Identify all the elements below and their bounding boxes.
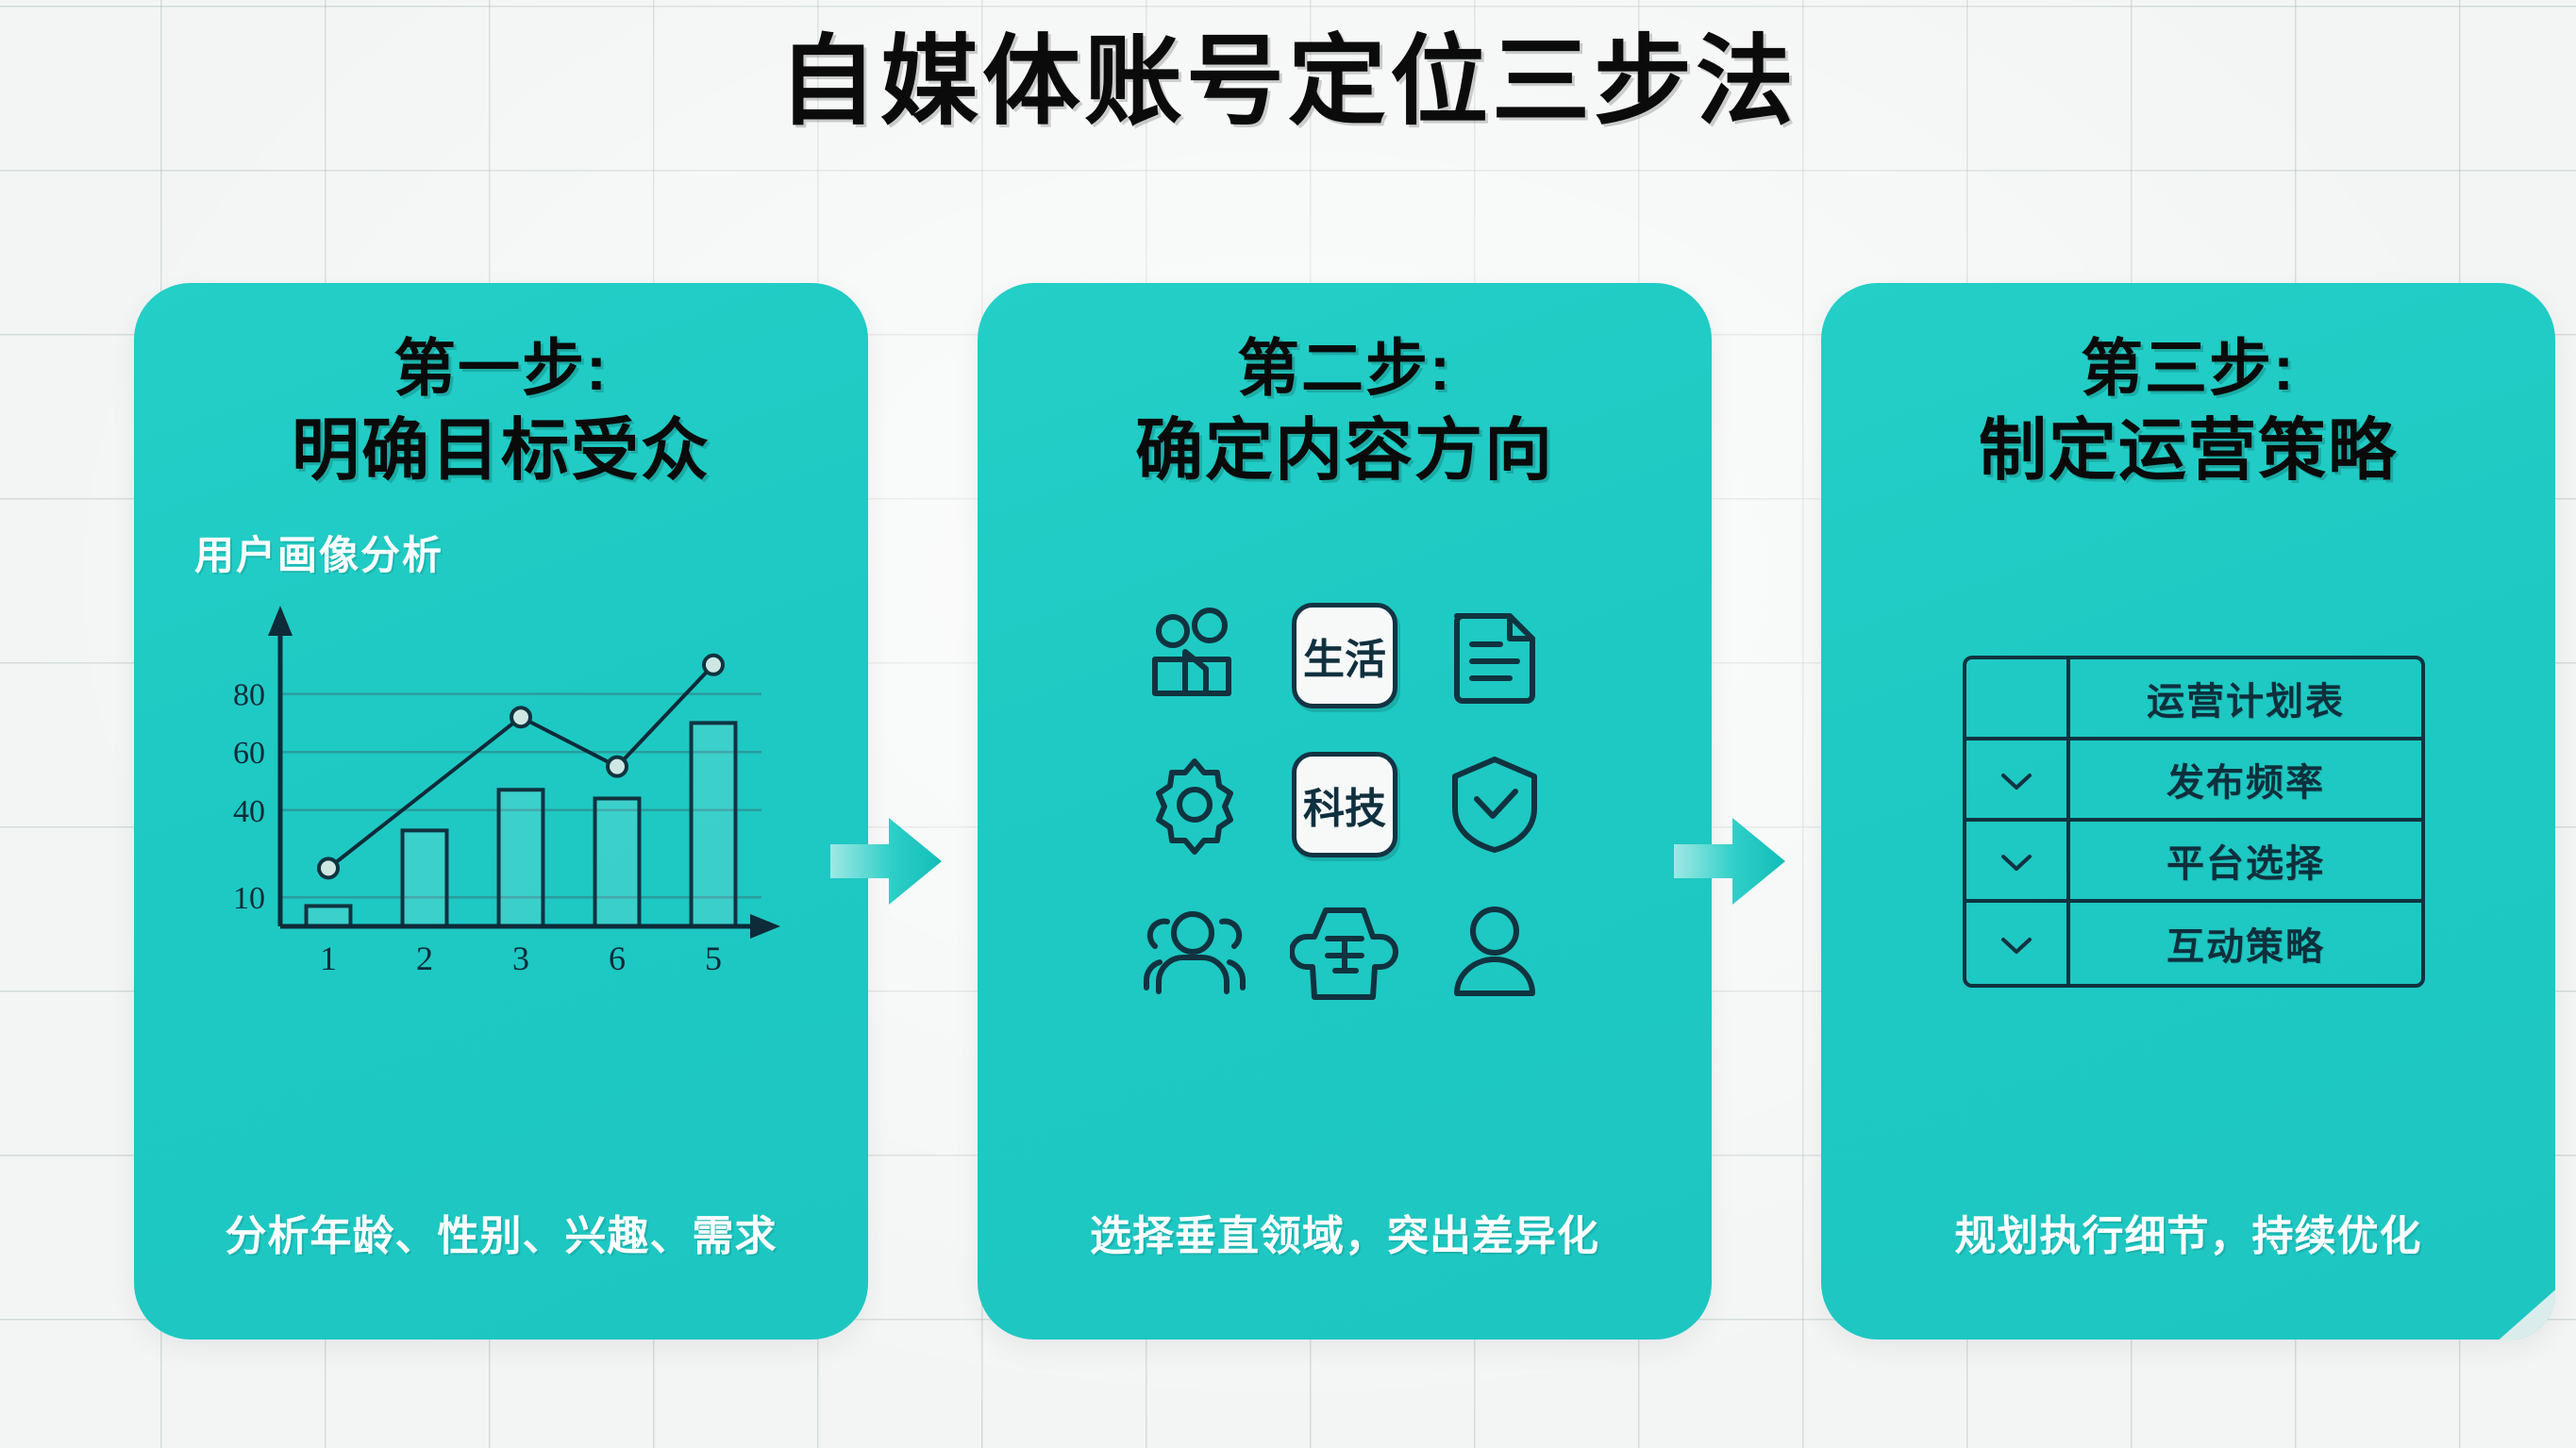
plan-row-label[interactable]: 发布频率	[2070, 741, 2421, 822]
svg-text:60: 60	[233, 736, 265, 771]
tag-life: 生活	[1283, 594, 1406, 717]
step-2-title: 确定内容方向	[978, 408, 1712, 494]
tag-life-label: 生活	[1292, 603, 1397, 708]
chevron-down-icon[interactable]	[1966, 741, 2070, 822]
step-2-label: 第二步:	[978, 328, 1712, 408]
step-1-label: 第一步:	[134, 328, 868, 408]
single-person-icon	[1433, 892, 1556, 1015]
arrow-step1-to-step2	[830, 816, 942, 907]
group-people-icon	[1133, 892, 1256, 1015]
svg-text:80: 80	[233, 678, 265, 713]
step-3-caption: 规划执行细节，持续优化	[1821, 1202, 2555, 1262]
plan-row-label[interactable]: 平台选择	[2070, 822, 2421, 903]
page-title: 自媒体账号定位三步法	[0, 26, 2576, 140]
chart-bars	[307, 723, 736, 926]
plan-table-header-row: 运营计划表	[1966, 659, 2421, 741]
svg-text:2: 2	[416, 940, 433, 977]
user-profile-chart: 用户画像分析 10406080 12365	[134, 524, 868, 994]
x-tick-labels: 12365	[320, 940, 722, 977]
plan-table-row[interactable]: 发布频率	[1966, 741, 2421, 822]
document-icon	[1433, 594, 1556, 717]
step-3-title: 制定运营策略	[1821, 408, 2555, 494]
content-direction-icon-grid: 生活 科技	[978, 594, 1712, 1015]
chevron-down-icon[interactable]	[1966, 822, 2070, 903]
svg-text:10: 10	[233, 881, 265, 916]
badge-character-icon	[1283, 892, 1406, 1015]
svg-text:5: 5	[705, 940, 722, 977]
chevron-down-icon[interactable]	[1966, 903, 2070, 984]
gear-icon	[1133, 743, 1256, 866]
x-axis-arrowhead	[750, 914, 780, 939]
y-axis-arrowhead	[268, 606, 293, 636]
users-chart-icon	[1133, 594, 1256, 717]
step-1-title: 明确目标受众	[134, 408, 868, 494]
plan-table-header-label: 运营计划表	[2070, 659, 2421, 741]
y-tick-labels: 10406080	[233, 678, 265, 917]
svg-text:40: 40	[233, 794, 265, 829]
svg-text:3: 3	[512, 940, 529, 977]
step-1-heading: 第一步: 明确目标受众	[134, 328, 868, 495]
step-card-3: 第三步: 制定运营策略 运营计划表发布频率平台选择互动策略 规划执行细节，持续优…	[1821, 283, 2555, 1340]
step-2-caption: 选择垂直领域，突出差异化	[978, 1202, 1712, 1262]
plan-row-label[interactable]: 互动策略	[2070, 903, 2421, 984]
tag-technology-label: 科技	[1292, 752, 1397, 857]
tag-technology: 科技	[1283, 743, 1406, 866]
shield-check-icon	[1433, 743, 1556, 866]
svg-text:6: 6	[609, 940, 626, 977]
plan-table-row[interactable]: 互动策略	[1966, 903, 2421, 984]
chart-title: 用户画像分析	[194, 524, 868, 581]
step-2-heading: 第二步: 确定内容方向	[978, 328, 1712, 495]
plan-header-spacer	[1966, 659, 2070, 741]
svg-text:1: 1	[320, 940, 337, 977]
step-card-2: 第二步: 确定内容方向 生活	[978, 283, 1712, 1340]
plan-table-row[interactable]: 平台选择	[1966, 822, 2421, 903]
step-3-heading: 第三步: 制定运营策略	[1821, 328, 2555, 495]
step-1-caption: 分析年龄、性别、兴趣、需求	[134, 1202, 868, 1262]
infographic-stage: 自媒体账号定位三步法 第一步: 明确目标受众 用户画像分析 10406080 1…	[0, 0, 2576, 1448]
step-3-label: 第三步:	[1821, 328, 2555, 408]
operation-plan-table: 运营计划表发布频率平台选择互动策略	[1963, 656, 2425, 988]
chart-canvas: 10406080 12365	[199, 598, 803, 994]
step-card-1: 第一步: 明确目标受众 用户画像分析 10406080 12365 分析年龄、性…	[134, 283, 868, 1340]
arrow-step2-to-step3	[1674, 816, 1785, 907]
